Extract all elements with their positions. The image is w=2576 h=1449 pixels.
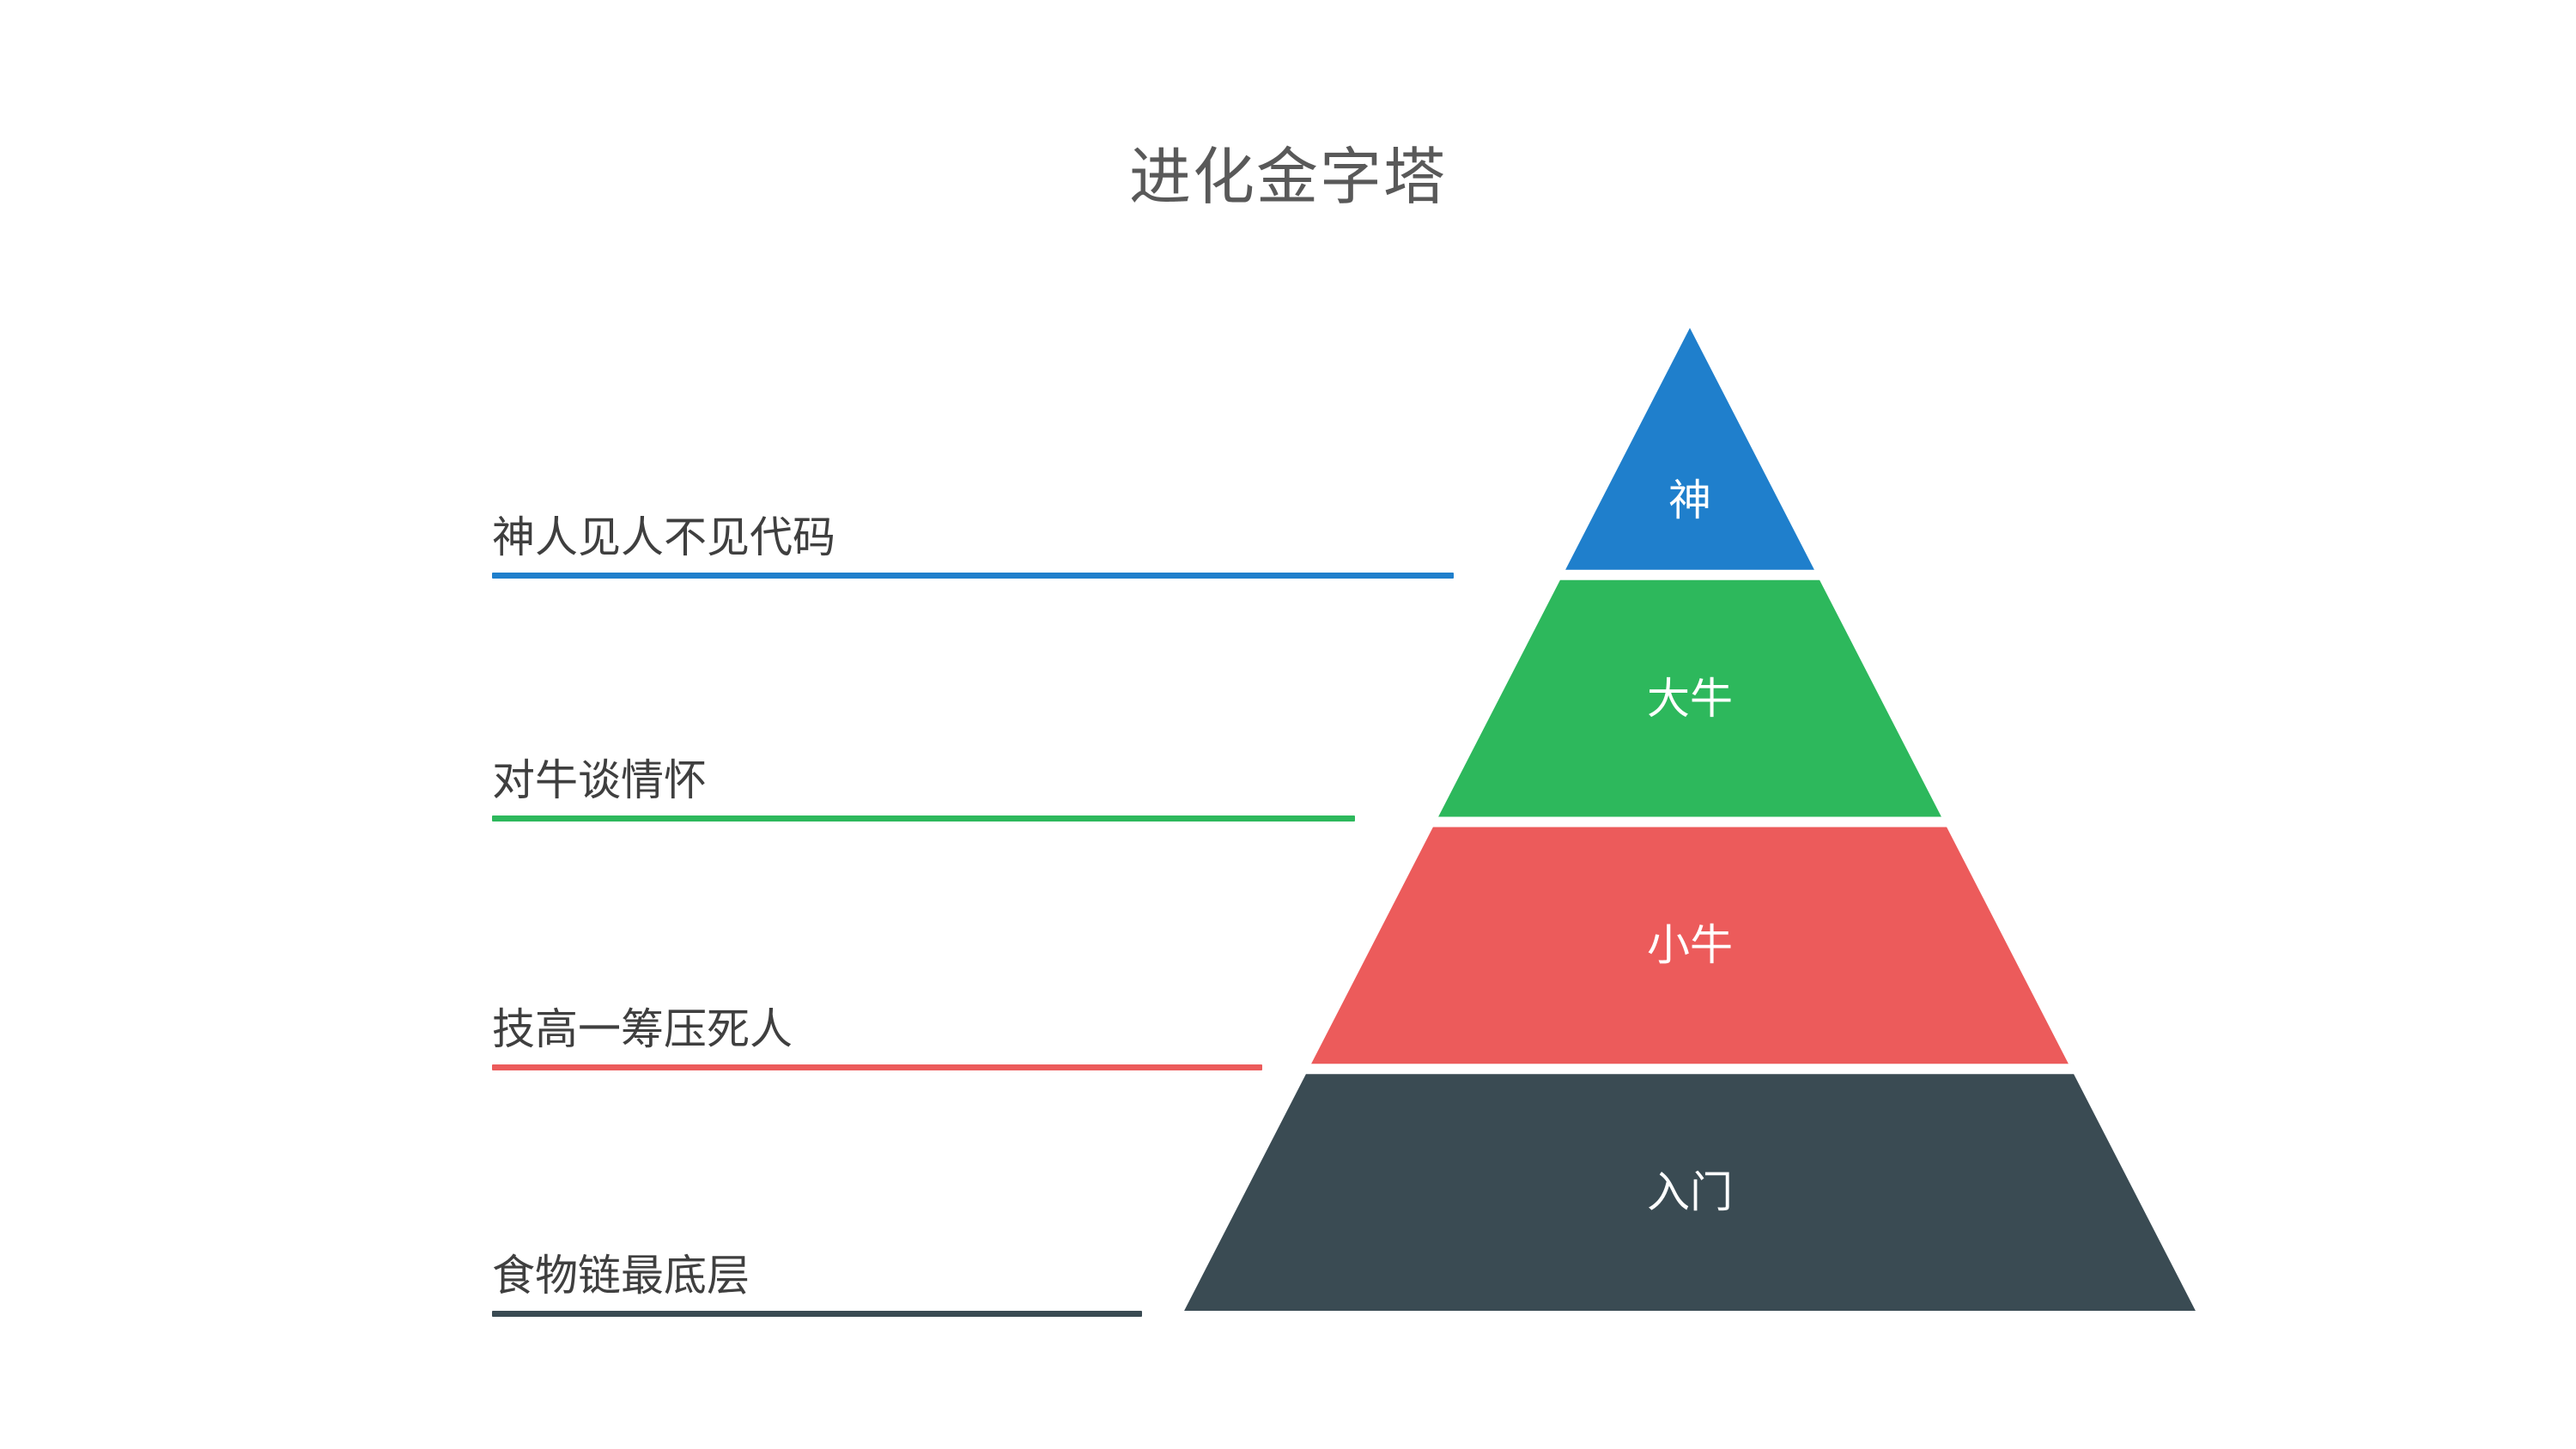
legend-label-0: 神人见人不见代码	[492, 515, 835, 561]
legend-label-1: 对牛谈情怀	[492, 758, 707, 803]
pyramid-svg	[1142, 309, 2224, 1339]
pyramid-tier-bottom[interactable]	[1184, 1074, 2196, 1311]
legend-label-2: 技高一筹压死人	[492, 1007, 793, 1052]
pyramid-tier-top[interactable]	[1565, 328, 1814, 570]
slide-canvas: 进化金字塔 神人见人不见代码 对牛谈情怀 技高一筹压死人 食物链最底层 神 大牛	[0, 0, 2576, 1449]
legend-label-3: 食物链最底层	[492, 1253, 750, 1299]
pyramid-tier-second[interactable]	[1438, 580, 1941, 817]
legend-rule-3	[492, 1311, 1142, 1317]
legend-row[interactable]: 食物链最底层	[492, 1185, 1142, 1317]
pyramid-chart: 神 大牛 小牛 入门	[1142, 309, 2224, 1339]
pyramid-tier-third[interactable]	[1311, 828, 2069, 1064]
